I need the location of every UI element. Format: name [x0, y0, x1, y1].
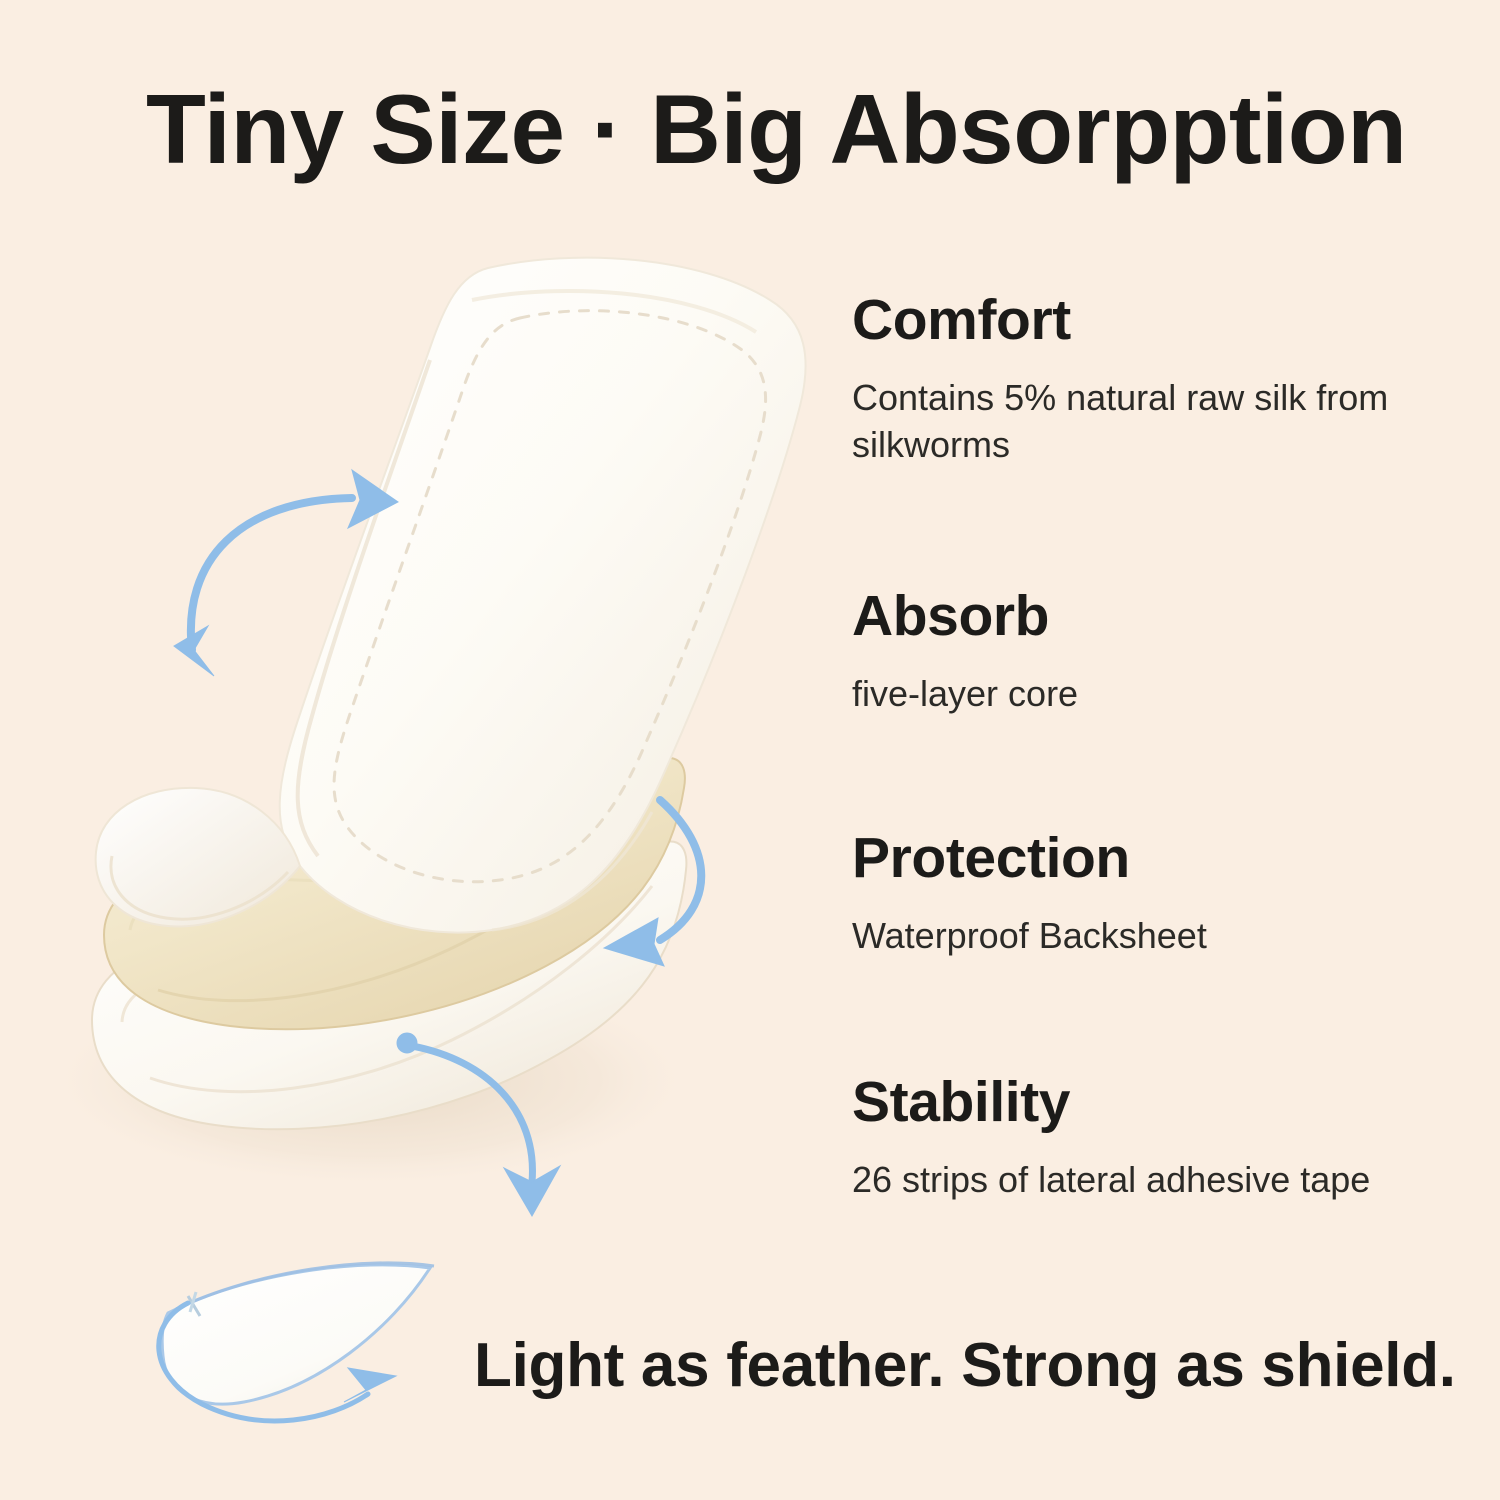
- feature-desc-stability: 26 strips of lateral adhesive tape: [852, 1157, 1370, 1204]
- feather-shape: [162, 1246, 447, 1404]
- feature-title-absorb: Absorb: [852, 588, 1078, 645]
- feature-absorb: Absorb five-layer core: [852, 588, 1078, 718]
- arrow-feather: [159, 1303, 396, 1421]
- feature-title-protection: Protection: [852, 830, 1207, 887]
- page-title: Tiny Size · Big Absorpption: [146, 78, 1386, 181]
- tagline: Light as feather. Strong as shield.: [474, 1330, 1456, 1401]
- product-illustration: [0, 0, 1500, 1500]
- arrow-topsheet: [174, 470, 398, 676]
- feature-desc-comfort: Contains 5% natural raw silk from silkwo…: [852, 375, 1464, 469]
- feature-comfort: Comfort Contains 5% natural raw silk fro…: [852, 292, 1464, 469]
- feature-desc-protection: Waterproof Backsheet: [852, 913, 1207, 960]
- arrow-core: [604, 800, 701, 966]
- feature-protection: Protection Waterproof Backsheet: [852, 830, 1207, 960]
- layer-silk-core: [104, 758, 685, 1029]
- arrow-backsheet: [397, 1033, 560, 1216]
- stack-shadow: [40, 970, 700, 1190]
- layer-backsheet: [92, 841, 686, 1129]
- feature-title-stability: Stability: [852, 1074, 1370, 1131]
- layer-topsheet: [96, 258, 806, 933]
- infographic-canvas: Tiny Size · Big Absorpption Comfort Cont…: [0, 0, 1500, 1500]
- feature-stability: Stability 26 strips of lateral adhesive …: [852, 1074, 1370, 1204]
- feature-title-comfort: Comfort: [852, 292, 1464, 349]
- feature-desc-absorb: five-layer core: [852, 671, 1078, 718]
